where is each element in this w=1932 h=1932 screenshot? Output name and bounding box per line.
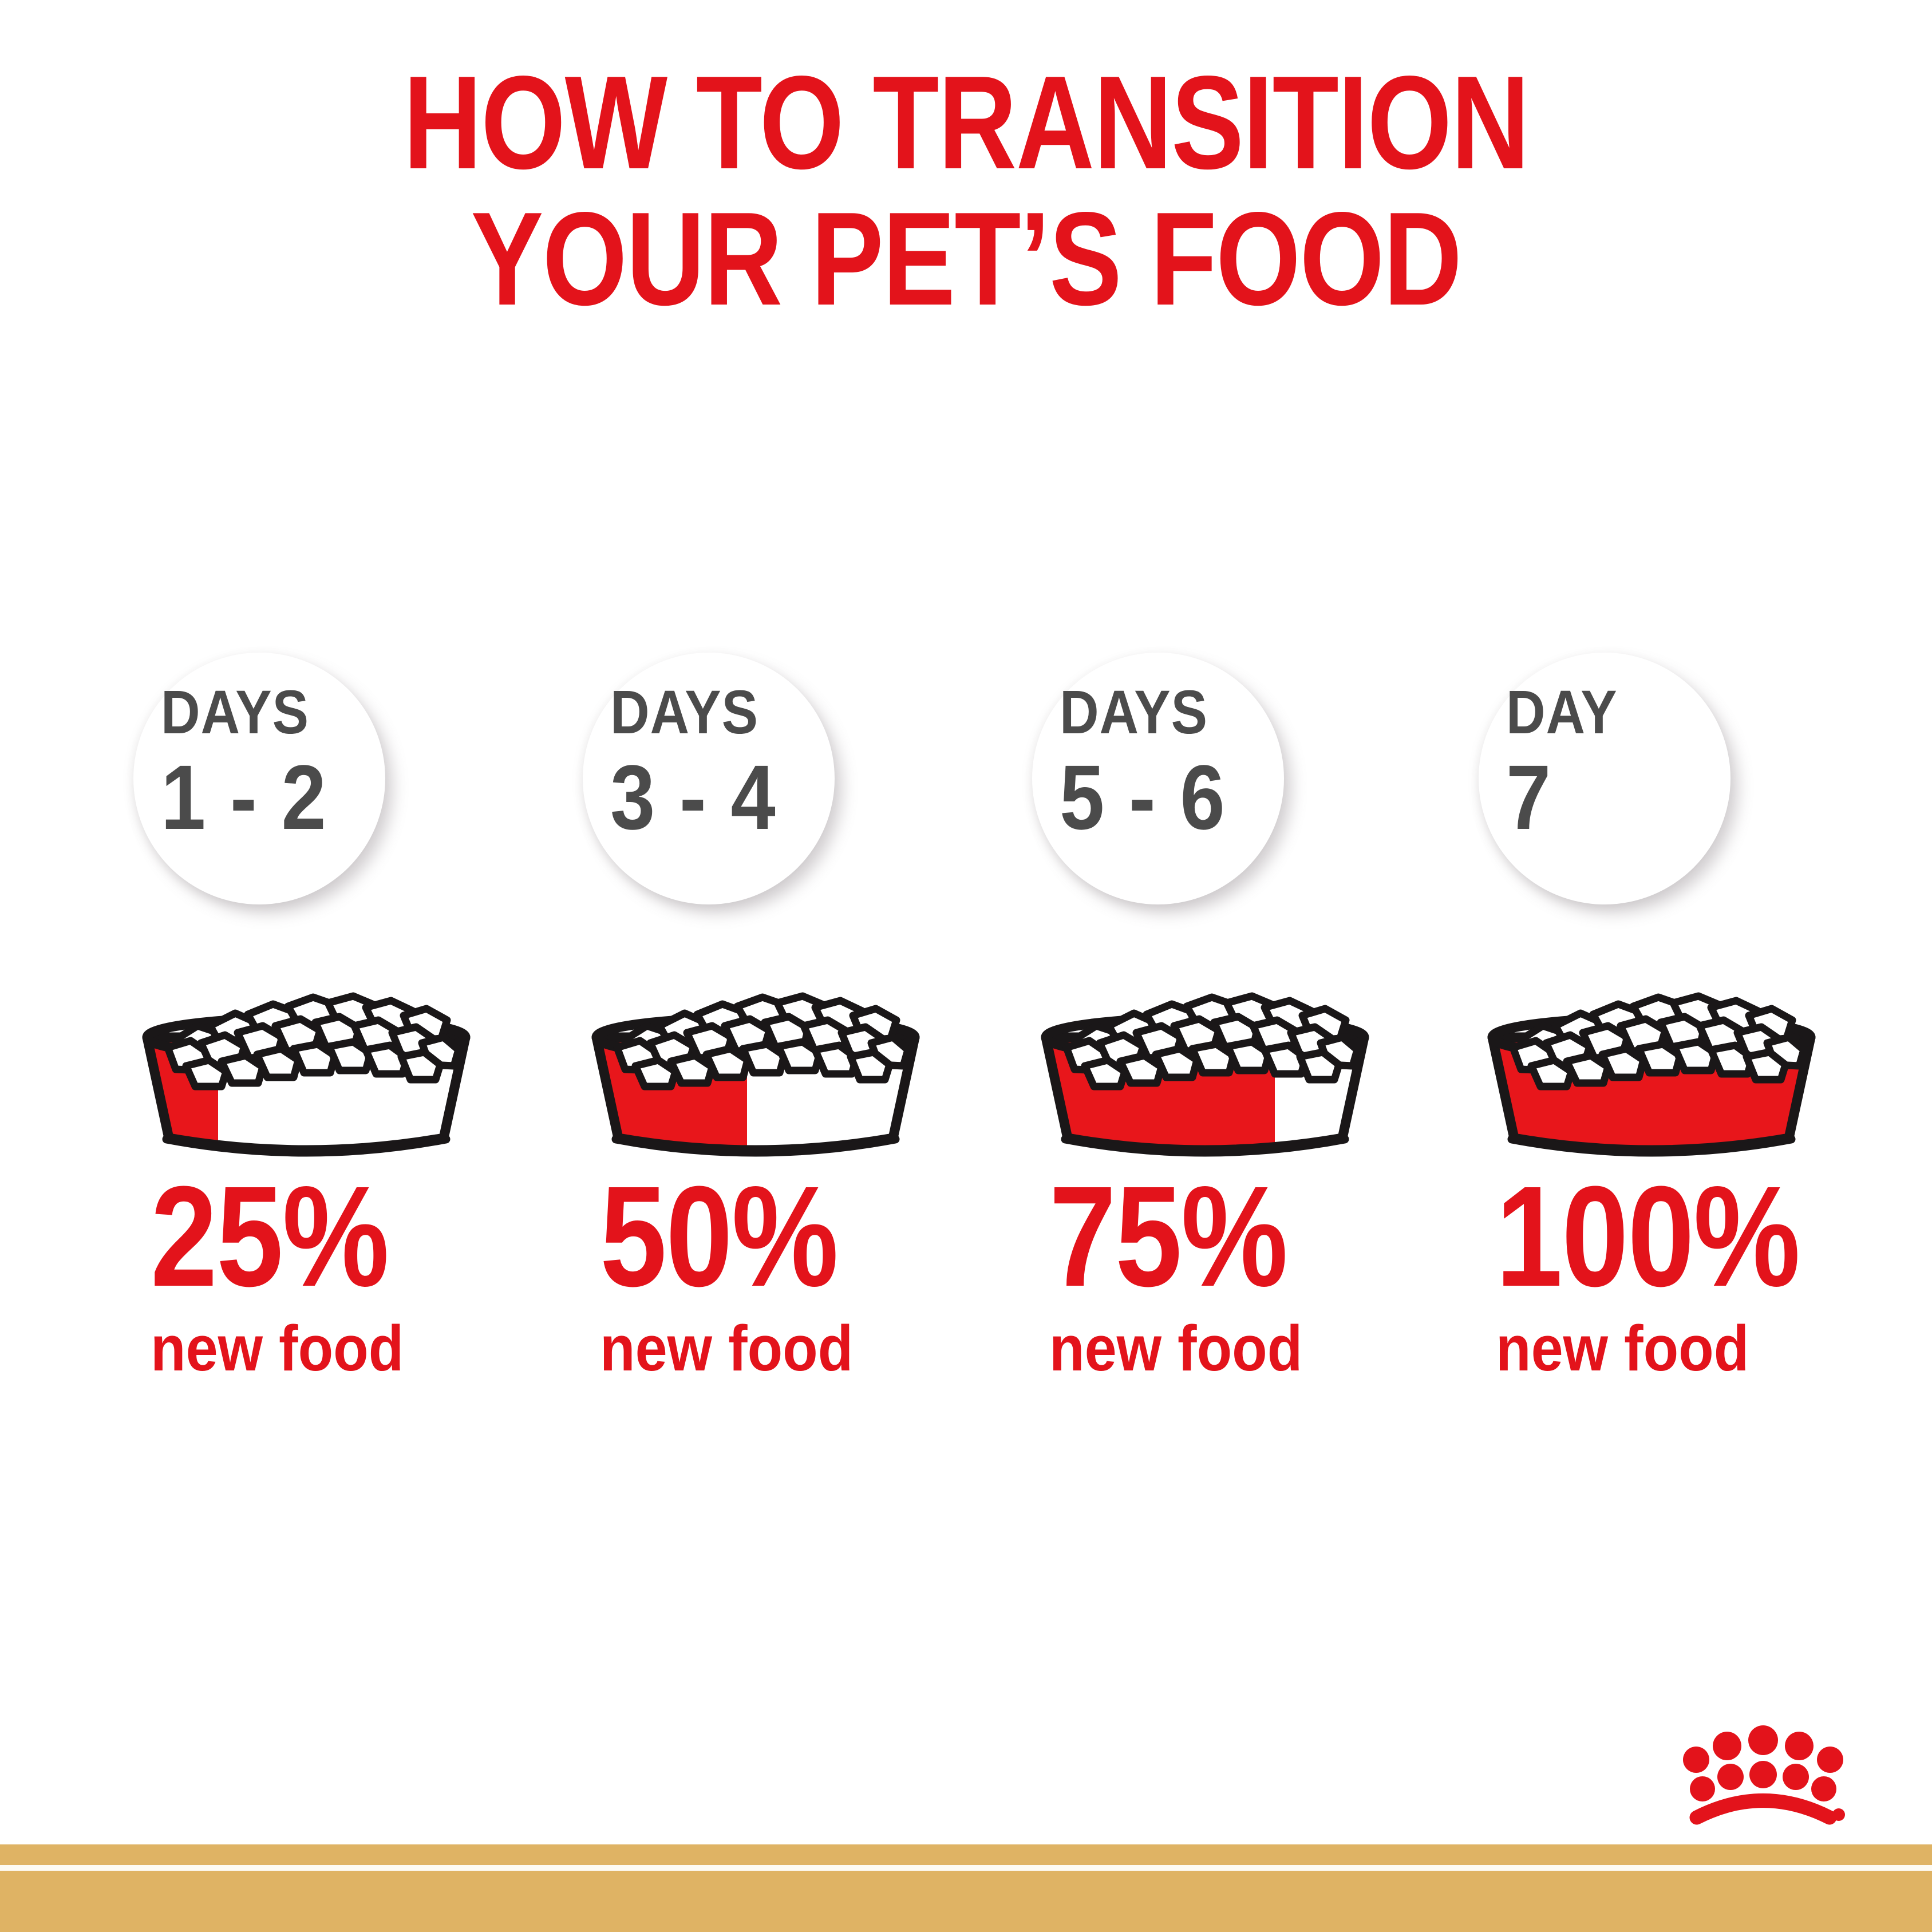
- transition-step-2: DAYS 3 - 4: [572, 653, 1025, 1557]
- transition-step-4: DAY 7: [1468, 653, 1921, 1557]
- percent-caption-1: new food: [151, 1317, 405, 1381]
- day-range-2: 3 - 4: [610, 754, 777, 840]
- transition-step-1: DAYS 1 - 2: [123, 653, 575, 1557]
- transition-steps: DAYS 1 - 2: [0, 653, 1932, 1557]
- pet-food-bowl-icon-1: [123, 973, 489, 1168]
- infographic-canvas: HOW TO TRANSITION YOUR PET’S FOOD DAYS 1…: [0, 0, 1932, 1932]
- percent-block-1: 25% new food: [151, 1168, 433, 1381]
- percent-caption-2: new food: [600, 1317, 855, 1381]
- day-badge-1: DAYS 1 - 2: [133, 653, 385, 904]
- percent-caption-3: new food: [1049, 1317, 1304, 1381]
- day-label-2: DAYS: [610, 682, 777, 742]
- royal-canin-crown-logo: [1677, 1724, 1849, 1833]
- percent-value-3: 75%: [1049, 1168, 1287, 1305]
- gold-footer-band: [0, 1844, 1932, 1932]
- day-label-3: DAYS: [1060, 682, 1226, 742]
- kibble-icon: [1513, 996, 1804, 1086]
- kibble-icon: [617, 996, 908, 1086]
- day-badge-text-2: DAYS 3 - 4: [610, 682, 799, 840]
- percent-value-2: 50%: [600, 1168, 837, 1305]
- day-range-3: 5 - 6: [1060, 754, 1226, 840]
- day-range-4: 7: [1506, 754, 1618, 840]
- percent-caption-4: new food: [1496, 1317, 1821, 1381]
- percent-block-2: 50% new food: [600, 1168, 883, 1381]
- day-badge-text-4: DAY 7: [1506, 682, 1633, 840]
- page-title-line-1: HOW TO TRANSITION: [174, 55, 1759, 191]
- day-badge-3: DAYS 5 - 6: [1032, 653, 1284, 904]
- percent-value-4: 100%: [1496, 1168, 1799, 1305]
- gold-band-divider: [0, 1865, 1932, 1871]
- day-badge-text-3: DAYS 5 - 6: [1060, 682, 1249, 840]
- pet-food-bowl-icon-4: [1468, 973, 1835, 1168]
- day-range-1: 1 - 2: [161, 754, 327, 840]
- percent-value-1: 25%: [151, 1168, 388, 1305]
- day-label-1: DAYS: [161, 682, 327, 742]
- day-badge-text-1: DAYS 1 - 2: [161, 682, 350, 840]
- kibble-icon: [1066, 996, 1357, 1086]
- page-title: HOW TO TRANSITION YOUR PET’S FOOD: [0, 55, 1932, 327]
- day-badge-2: DAYS 3 - 4: [583, 653, 835, 904]
- kibble-icon: [168, 996, 459, 1086]
- pet-food-bowl-icon-2: [572, 973, 939, 1168]
- percent-block-4: 100% new food: [1496, 1168, 1857, 1381]
- day-label-4: DAY: [1506, 682, 1618, 742]
- page-title-line-2: YOUR PET’S FOOD: [174, 191, 1759, 327]
- percent-block-3: 75% new food: [1049, 1168, 1332, 1381]
- day-badge-4: DAY 7: [1479, 653, 1730, 904]
- transition-step-3: DAYS 5 - 6: [1022, 653, 1474, 1557]
- pet-food-bowl-icon-3: [1022, 973, 1388, 1168]
